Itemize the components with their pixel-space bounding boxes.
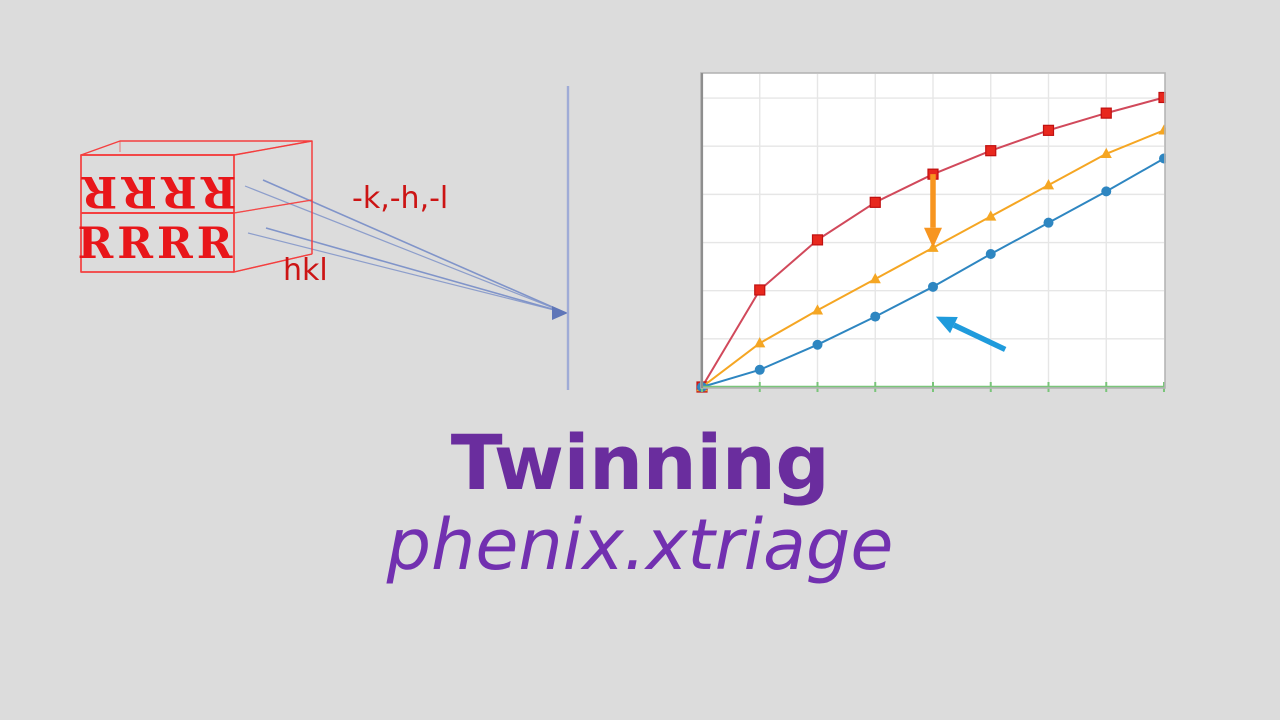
page-title: Twinning [0, 424, 1280, 502]
twin-domain-flipped-letters: RRRR [78, 166, 237, 216]
page-subtitle: phenix.xtriage [0, 506, 1280, 584]
label-hkl: hkl [283, 253, 328, 288]
label-minus-k-minus-h-minus-l: -k,-h,-l [352, 181, 448, 216]
svg-text:RRRR: RRRR [78, 219, 237, 269]
twin-lattice-diagram: RRRR RRRR -k,-h,-l hkl [0, 0, 640, 420]
svg-text:RRRR: RRRR [78, 166, 237, 216]
ray-arrowhead [552, 306, 568, 320]
cumulative-intensity-chart [696, 72, 1166, 394]
slide-canvas: RRRR RRRR -k,-h,-l hkl Twinning phenix.x… [0, 0, 1280, 720]
title-block: Twinning phenix.xtriage [0, 424, 1280, 584]
twin-domain-upright-letters: RRRR [78, 219, 237, 269]
